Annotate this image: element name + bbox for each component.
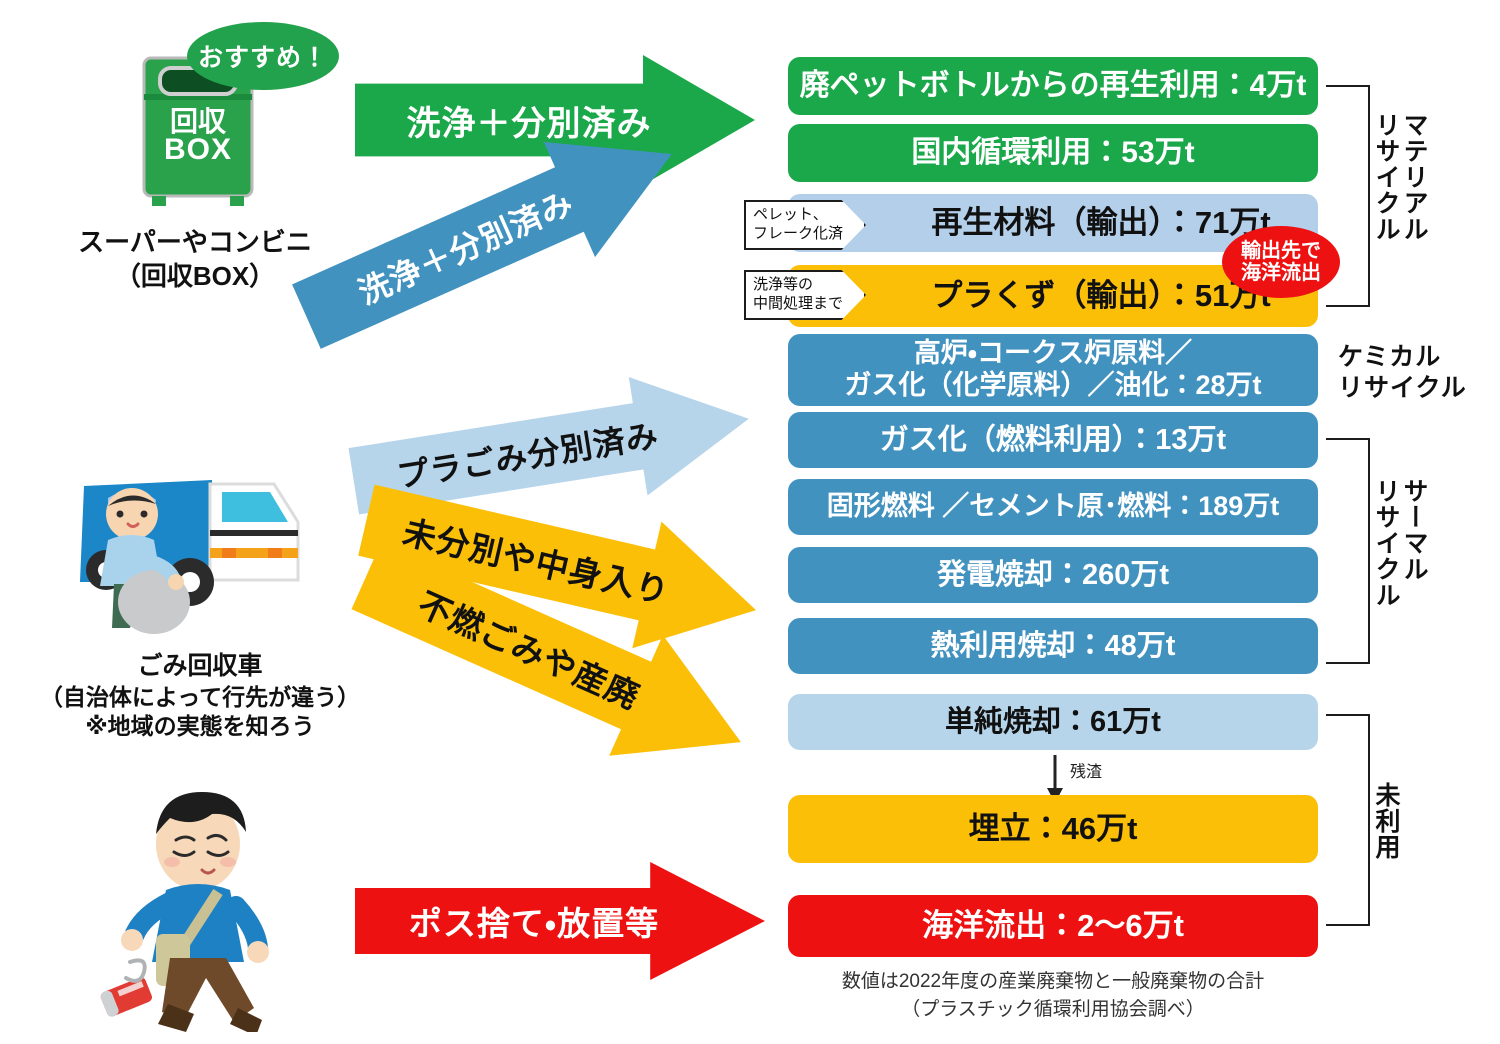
garbage-truck-caption: ごみ回収車 （自治体によって行先が違う） ※地域の実態を知ろう xyxy=(0,650,400,742)
arrow-washed-sorted-blue-label: 洗浄＋分別済み xyxy=(350,178,580,314)
pennant-washing: 洗浄等の 中間処理まで xyxy=(744,270,866,320)
arrow-littering-label: ポス捨て・放置等 xyxy=(409,897,659,945)
footnote-line2: （プラスチック循環利用協会調べ） xyxy=(788,996,1318,1024)
cat-thermal-label: サーマル リサイクル xyxy=(1372,478,1428,608)
garbage-truck-illustration xyxy=(62,462,332,647)
cat-thermal-line2: リサイクル xyxy=(1372,478,1400,608)
residue-label: 残渣 xyxy=(1070,758,1102,782)
pennant-pellet: ペレット、 フレーク化済 xyxy=(744,200,866,250)
cat-chemical-line2: リサイクル xyxy=(1338,373,1467,404)
bar-simple-incin: 単純焼却：61万t xyxy=(788,694,1318,750)
cat-thermal-line1: サーマル xyxy=(1400,478,1428,582)
cat-chemical-line1: ケミカル xyxy=(1338,342,1467,373)
bracket-unused xyxy=(1326,714,1370,926)
export-ocean-warning-line1: 輸出先で xyxy=(1241,240,1321,262)
bracket-thermal xyxy=(1326,438,1370,664)
cat-chemical-label: ケミカル リサイクル xyxy=(1338,342,1467,403)
pennant-washing-line1: 洗浄等の xyxy=(753,276,864,295)
collection-box-text-line1: 回収 xyxy=(138,108,258,135)
export-ocean-warning-badge: 輸出先で 海洋流出 xyxy=(1222,226,1340,298)
cat-unused-line1: 未利用 xyxy=(1372,782,1400,860)
recommend-badge: おすすめ！ xyxy=(187,22,339,90)
bar-gasification: ガス化（燃料利用）：13万t xyxy=(788,412,1318,468)
arrow-littering: ポス捨て・放置等 xyxy=(355,862,765,980)
infographic-canvas: 回収 BOX おすすめ！ スーパーやコンビニ （回収BOX） xyxy=(0,0,1500,1044)
footnote: 数値は2022年度の産業廃棄物と一般廃棄物の合計 （プラスチック循環利用協会調べ… xyxy=(788,968,1318,1023)
pennant-pellet-line2: フレーク化済 xyxy=(753,225,864,244)
bar-heat-incin: 熱利用焼却：48万t xyxy=(788,618,1318,674)
cat-material-line1: マテリアル xyxy=(1400,112,1428,242)
bar-domestic-cycle: 国内循環利用：53万t xyxy=(788,124,1318,182)
collection-box-text: 回収 BOX xyxy=(138,108,258,165)
footnote-line1: 数値は2022年度の産業廃棄物と一般廃棄物の合計 xyxy=(788,968,1318,996)
bar-power-incin: 発電焼却：260万t xyxy=(788,547,1318,603)
garbage-truck-caption-line2: （自治体によって行先が違う） xyxy=(0,683,400,713)
bar-scrap-export-label: プラくず（輸出）：51万t xyxy=(931,278,1270,315)
bar-pet-recycled: 廃ペットボトルからの再生利用：4万t xyxy=(788,57,1318,115)
cat-material-label: マテリアル リサイクル xyxy=(1372,112,1428,242)
bar-blast-furnace: 高炉・コークス炉原料／ ガス化（化学原料）／油化：28万t xyxy=(788,334,1318,406)
bar-landfill: 埋立：46万t xyxy=(788,795,1318,863)
pennant-washing-line2: 中間処理まで xyxy=(753,295,864,314)
bar-ocean-leak: 海洋流出：2〜6万t xyxy=(788,895,1318,957)
bar-recycled-export-label: 再生材料（輸出）：71万t xyxy=(931,205,1270,242)
cat-unused-label: 未利用 xyxy=(1372,782,1400,860)
litterer-illustration xyxy=(90,782,320,1032)
export-ocean-warning-line2: 海洋流出 xyxy=(1241,262,1321,284)
bar-solid-fuel: 固形燃料 ／セメント原･燃料：189万t xyxy=(788,479,1318,535)
cat-material-line2: リサイクル xyxy=(1372,112,1400,242)
garbage-truck-caption-line3: ※地域の実態を知ろう xyxy=(0,712,400,742)
collection-box-text-line2: BOX xyxy=(138,135,258,164)
pennant-pellet-line1: ペレット、 xyxy=(753,206,864,225)
